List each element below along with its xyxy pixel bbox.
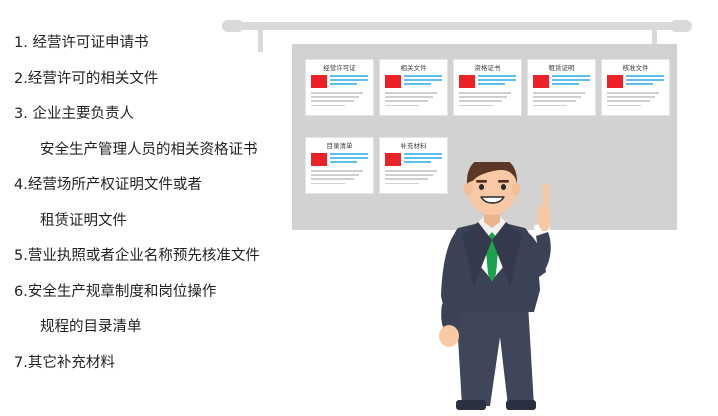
document-text-lines-bottom — [385, 92, 442, 109]
text-line — [311, 183, 345, 185]
text-line — [478, 83, 505, 85]
document-card-title: 相关文件 — [385, 64, 442, 72]
text-line — [607, 92, 659, 94]
text-line — [311, 100, 354, 102]
text-line — [478, 79, 516, 81]
text-line — [533, 96, 581, 98]
text-line — [385, 105, 419, 107]
text-line — [385, 100, 428, 102]
list-item: 7.其它补充材料 — [14, 356, 284, 371]
document-card-preview — [459, 75, 516, 113]
document-thumbnail-icon — [533, 75, 549, 88]
text-line — [311, 174, 359, 176]
text-line — [311, 178, 354, 180]
document-text-lines — [404, 75, 442, 88]
document-card-title: 资格证书 — [459, 64, 516, 72]
board-rail-left-cap — [222, 20, 244, 32]
document-card[interactable]: 相关文件 — [380, 60, 447, 115]
list-item: 5.营业执照或者企业名称预先核准文件 — [14, 249, 284, 264]
text-line — [626, 79, 664, 81]
text-line — [404, 153, 442, 155]
list-item: 6.安全生产规章制度和岗位操作 — [14, 285, 284, 300]
text-line — [607, 105, 641, 107]
document-text-lines — [478, 75, 516, 88]
text-line — [404, 75, 442, 77]
text-line — [385, 92, 437, 94]
text-line — [533, 92, 585, 94]
text-line — [330, 157, 368, 159]
text-line — [607, 96, 655, 98]
text-line — [330, 75, 368, 77]
text-line — [330, 161, 357, 163]
document-card-preview — [385, 75, 442, 113]
text-line — [552, 83, 579, 85]
text-line — [404, 79, 442, 81]
document-card-title: 核准文件 — [607, 64, 664, 72]
document-thumbnail-icon — [385, 75, 401, 88]
board-hanger-left — [258, 30, 263, 52]
document-text-lines — [552, 75, 590, 88]
document-card[interactable]: 经营许可证 — [306, 60, 373, 115]
text-line — [533, 105, 567, 107]
document-card-title: 租赁证明 — [533, 64, 590, 72]
text-line — [533, 100, 576, 102]
document-card-preview — [311, 153, 368, 191]
board-rail-right-cap — [670, 20, 692, 32]
document-card[interactable]: 目录清单 — [306, 138, 373, 193]
document-thumbnail-icon — [385, 153, 401, 166]
document-text-lines — [330, 153, 368, 166]
document-card-preview — [533, 75, 590, 113]
document-text-lines-bottom — [311, 92, 368, 109]
document-thumbnail-icon — [459, 75, 475, 88]
text-line — [404, 83, 431, 85]
document-card[interactable]: 资格证书 — [454, 60, 521, 115]
document-text-lines-bottom — [533, 92, 590, 109]
document-thumbnail-icon — [311, 153, 327, 166]
document-card-preview — [607, 75, 664, 113]
text-line — [311, 92, 363, 94]
document-card[interactable]: 核准文件 — [602, 60, 669, 115]
text-line — [478, 75, 516, 77]
text-line — [459, 96, 507, 98]
document-thumbnail-icon — [311, 75, 327, 88]
text-line — [385, 96, 433, 98]
text-line — [404, 157, 442, 159]
text-line — [552, 79, 590, 81]
text-line — [607, 100, 650, 102]
text-line — [330, 83, 357, 85]
document-thumbnail-icon — [607, 75, 623, 88]
text-line — [330, 153, 368, 155]
document-card[interactable]: 租赁证明 — [528, 60, 595, 115]
text-line — [330, 79, 368, 81]
document-text-lines-bottom — [607, 92, 664, 109]
document-text-lines-bottom — [311, 170, 368, 187]
text-line — [459, 105, 493, 107]
text-line — [311, 105, 345, 107]
board-rail — [222, 22, 692, 30]
text-line — [459, 92, 511, 94]
document-card-title: 目录清单 — [311, 142, 368, 150]
text-line — [311, 170, 363, 172]
document-text-lines — [330, 75, 368, 88]
document-card-title: 补充材料 — [385, 142, 442, 150]
text-line — [311, 96, 359, 98]
text-line — [626, 83, 653, 85]
document-card-preview — [311, 75, 368, 113]
businessman-illustration — [412, 162, 592, 412]
text-line — [459, 100, 502, 102]
text-line — [626, 75, 664, 77]
text-line — [552, 75, 590, 77]
document-text-lines-bottom — [459, 92, 516, 109]
list-item: 规程的目录清单 — [14, 320, 284, 335]
document-card-title: 经营许可证 — [311, 64, 368, 72]
document-text-lines — [626, 75, 664, 88]
